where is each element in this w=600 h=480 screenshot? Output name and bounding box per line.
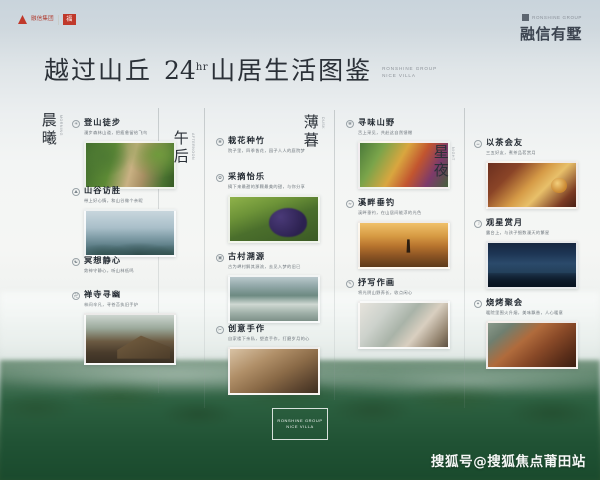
item-thumbnail[interactable] xyxy=(84,209,176,257)
item-title: 古村溯源 xyxy=(228,252,265,261)
item-description: 将光阴山野养长，收点闲心 xyxy=(358,290,458,296)
footer-logo-line-1: RONSHINE GROUP xyxy=(277,418,322,423)
footer-logo-line-2: NICE VILLA xyxy=(286,424,314,429)
column-separator xyxy=(334,110,335,400)
item-thumbnail[interactable] xyxy=(486,241,578,289)
item-title: 烧烤聚会 xyxy=(486,298,523,307)
item-description: 溪畔垂钓，在山居间能浮的光色 xyxy=(358,210,458,216)
column-name-en: MORNING xyxy=(59,115,63,136)
item-title: 冥想静心 xyxy=(84,256,121,265)
column-title-dusk: 薄暮 DUSK xyxy=(302,114,325,150)
item-title: 寻味山野 xyxy=(358,118,395,127)
item-description: 暖院里围火升烟，美味飘香，人心暖意 xyxy=(486,310,586,316)
item-thumbnail[interactable] xyxy=(228,347,320,395)
brand-logo-bottom: RONSHINE GROUP NICE VILLA xyxy=(272,408,328,440)
list-item[interactable]: ✿ 采摘怡乐 摘下来最甜的那颗最美的甜，与你分享 xyxy=(216,172,328,243)
list-item[interactable]: ☽ 观星赏月 露台上，与孩子细数漫天的繁星 xyxy=(474,218,586,289)
column-title-morning: 晨曦 MORNING xyxy=(40,112,63,148)
item-title: 创意手作 xyxy=(228,324,265,333)
list-item[interactable]: 卍 禅寺寻幽 林间辛凡，寻苍苔执旧手炉 xyxy=(72,290,184,365)
item-description: 古为岬村解其源流，去见入梦的旧已 xyxy=(228,264,328,270)
item-thumbnail[interactable] xyxy=(228,275,320,323)
mountain-icon: ⛰ xyxy=(72,188,80,196)
item-thumbnail[interactable] xyxy=(486,321,578,369)
item-description: 露台上，与孩子细数漫天的繁星 xyxy=(486,230,586,236)
item-title: 登山徒步 xyxy=(84,118,121,127)
item-title: 山谷访胜 xyxy=(84,186,121,195)
list-item[interactable]: ≈ 溪畔垂钓 溪畔垂钓，在山居间能浮的光色 xyxy=(346,198,458,269)
fish-icon: ≈ xyxy=(346,200,354,208)
item-description: 自家楼下亲私，塑造手作，打磨岁月的心 xyxy=(228,336,328,342)
column-title-night: 星夜 NIGHT xyxy=(432,144,455,180)
item-title: 采摘怡乐 xyxy=(228,172,265,181)
fruit-icon: ✿ xyxy=(216,174,224,182)
watermark: 搜狐号@搜狐焦点莆田站 xyxy=(431,450,586,470)
brand-logo-bottom-text: RONSHINE GROUP NICE VILLA xyxy=(277,418,322,430)
list-item[interactable]: ☯ 冥想静心 敛神守静心，听山林低鸣 xyxy=(72,256,184,274)
column-name-en: AFTERNOON xyxy=(191,133,195,160)
list-item[interactable]: ✂ 创意手作 自家楼下亲私，塑造手作，打磨岁月的心 xyxy=(216,324,328,395)
list-item[interactable]: ✦ 烧烤聚会 暖院里围火升烟，美味飘香，人心暖意 xyxy=(474,298,586,369)
item-description: 漫步森林山道，把疲惫留给飞鸟 xyxy=(84,130,184,136)
item-thumbnail[interactable] xyxy=(486,161,578,209)
list-item[interactable]: ✎ 抒写作画 将光阴山野养长，收点闲心 xyxy=(346,278,458,349)
item-title: 观星赏月 xyxy=(486,218,523,227)
item-thumbnail[interactable] xyxy=(84,141,176,189)
temple-icon: 卍 xyxy=(72,292,80,300)
column-separator xyxy=(204,108,205,408)
item-title: 抒写作画 xyxy=(358,278,395,287)
item-thumbnail[interactable] xyxy=(358,221,450,269)
fire-icon: ✦ xyxy=(474,300,482,308)
column-name-zh: 午后 xyxy=(172,130,189,166)
list-item[interactable]: ⛰ 山谷访胜 带上好心情，和山谷做个亲昵 xyxy=(72,186,184,257)
moon-icon: ☽ xyxy=(474,220,482,228)
village-icon: ▣ xyxy=(216,254,224,262)
column-name-en: DUSK xyxy=(321,117,325,129)
poster-canvas: 融信集团 福 RONSHINE GROUP 融信有墅 越过山丘 24 hr 山居… xyxy=(0,0,600,480)
brush-icon: ✎ xyxy=(346,280,354,288)
column-name-zh: 星夜 xyxy=(432,144,449,180)
item-description: 摘下来最甜的那颗最美的甜，与你分享 xyxy=(228,184,328,190)
list-item[interactable]: ☀ 登山徒步 漫步森林山道，把疲惫留给飞鸟 xyxy=(72,118,184,189)
list-item[interactable]: ▣ 古村溯源 古为岬村解其源流，去见入梦的旧已 xyxy=(216,252,328,323)
flower-icon: ❀ xyxy=(216,138,224,146)
list-item[interactable]: ☕ 以茶会友 三五好友，煮茶品茗赏月 xyxy=(474,138,586,209)
sun-icon: ☀ xyxy=(72,120,80,128)
item-description: 舌上采见，共赴这自然馈赠 xyxy=(358,130,458,136)
item-description: 带上好心情，和山谷做个亲昵 xyxy=(84,198,184,204)
item-description: 林间辛凡，寻苍苔执旧手炉 xyxy=(84,302,184,308)
item-thumbnail[interactable] xyxy=(228,195,320,243)
item-description: 三五好友，煮茶品茗赏月 xyxy=(486,150,586,156)
item-title: 以茶会友 xyxy=(486,138,523,147)
item-description: 敛神守静心，听山林低鸣 xyxy=(84,268,184,274)
column-name-zh: 薄暮 xyxy=(302,114,319,150)
column-name-en: NIGHT xyxy=(451,147,455,161)
lotus-icon: ☯ xyxy=(72,258,80,266)
item-title: 禅寺寻幽 xyxy=(84,290,121,299)
column-title-afternoon: 午后 AFTERNOON xyxy=(172,130,195,166)
teacup-icon: ☕ xyxy=(474,140,482,148)
column-name-zh: 晨曦 xyxy=(40,112,57,148)
item-thumbnail[interactable] xyxy=(358,301,450,349)
item-title: 栽花种竹 xyxy=(228,136,265,145)
craft-icon: ✂ xyxy=(216,326,224,334)
item-title: 溪畔垂钓 xyxy=(358,198,395,207)
column-separator xyxy=(464,108,465,408)
item-thumbnail[interactable] xyxy=(84,313,176,365)
leaf-icon: ❃ xyxy=(346,120,354,128)
